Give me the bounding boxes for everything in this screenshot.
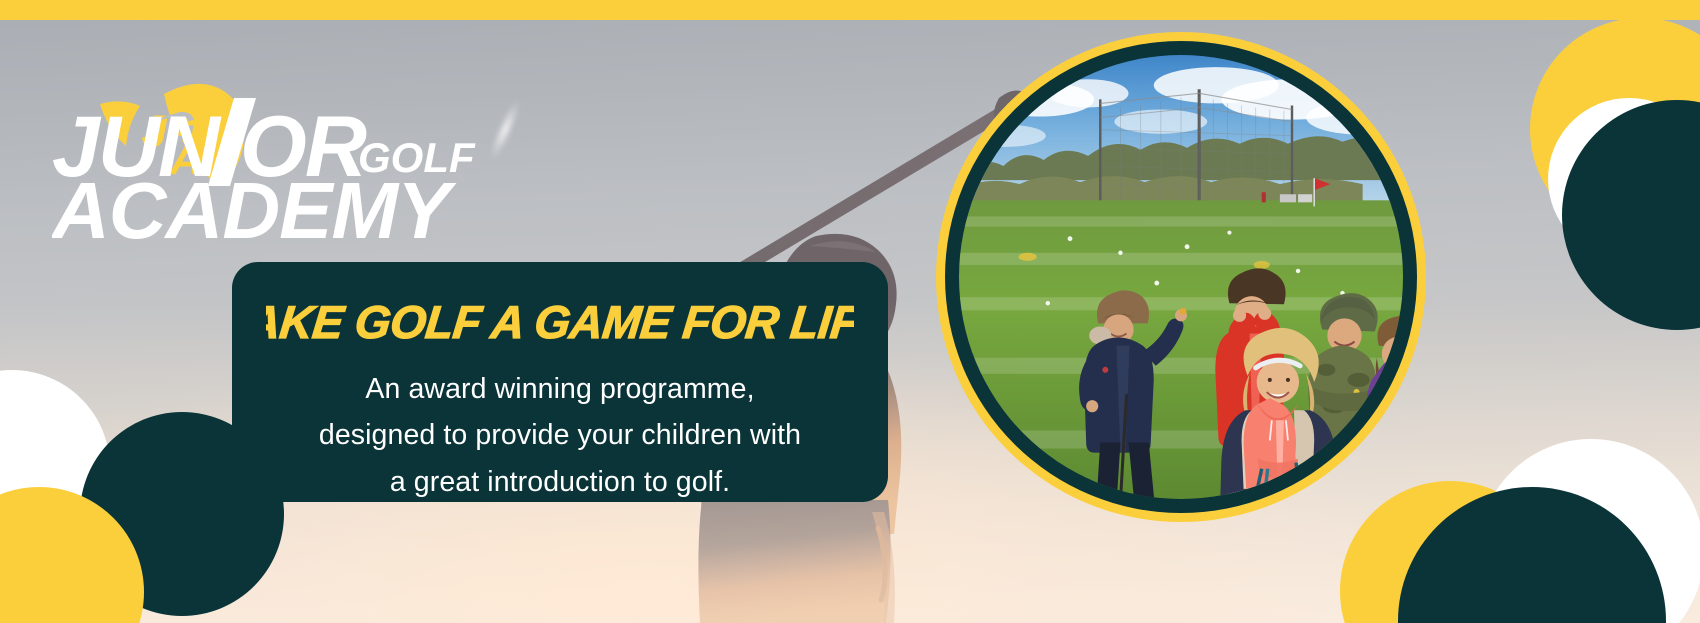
message-card: MAKE GOLF A GAME FOR LIFE! An award winn… xyxy=(232,262,888,502)
top-accent-bar xyxy=(0,0,1700,20)
card-body-text: An award winning programme, designed to … xyxy=(266,366,854,505)
logo-line-academy: ACADEMY xyxy=(52,166,457,252)
photo-inner-ring xyxy=(945,41,1417,513)
card-body-line-3: a great introduction to golf. xyxy=(266,459,854,505)
card-body-line-2: designed to provide your children with xyxy=(266,412,854,458)
photo-outer-ring xyxy=(936,32,1426,522)
headline-wrapper: MAKE GOLF A GAME FOR LIFE! xyxy=(266,288,854,354)
junior-golf-academy-banner: J G A JUNIOR GOLF ACADEMY MAKE GOLF A GA… xyxy=(0,0,1700,623)
headline-text: MAKE GOLF A GAME FOR LIFE! xyxy=(266,296,854,348)
logo-lockup[interactable]: J G A JUNIOR GOLF ACADEMY xyxy=(52,52,482,252)
children-group-photo xyxy=(959,55,1403,499)
card-body-line-1: An award winning programme, xyxy=(266,366,854,412)
